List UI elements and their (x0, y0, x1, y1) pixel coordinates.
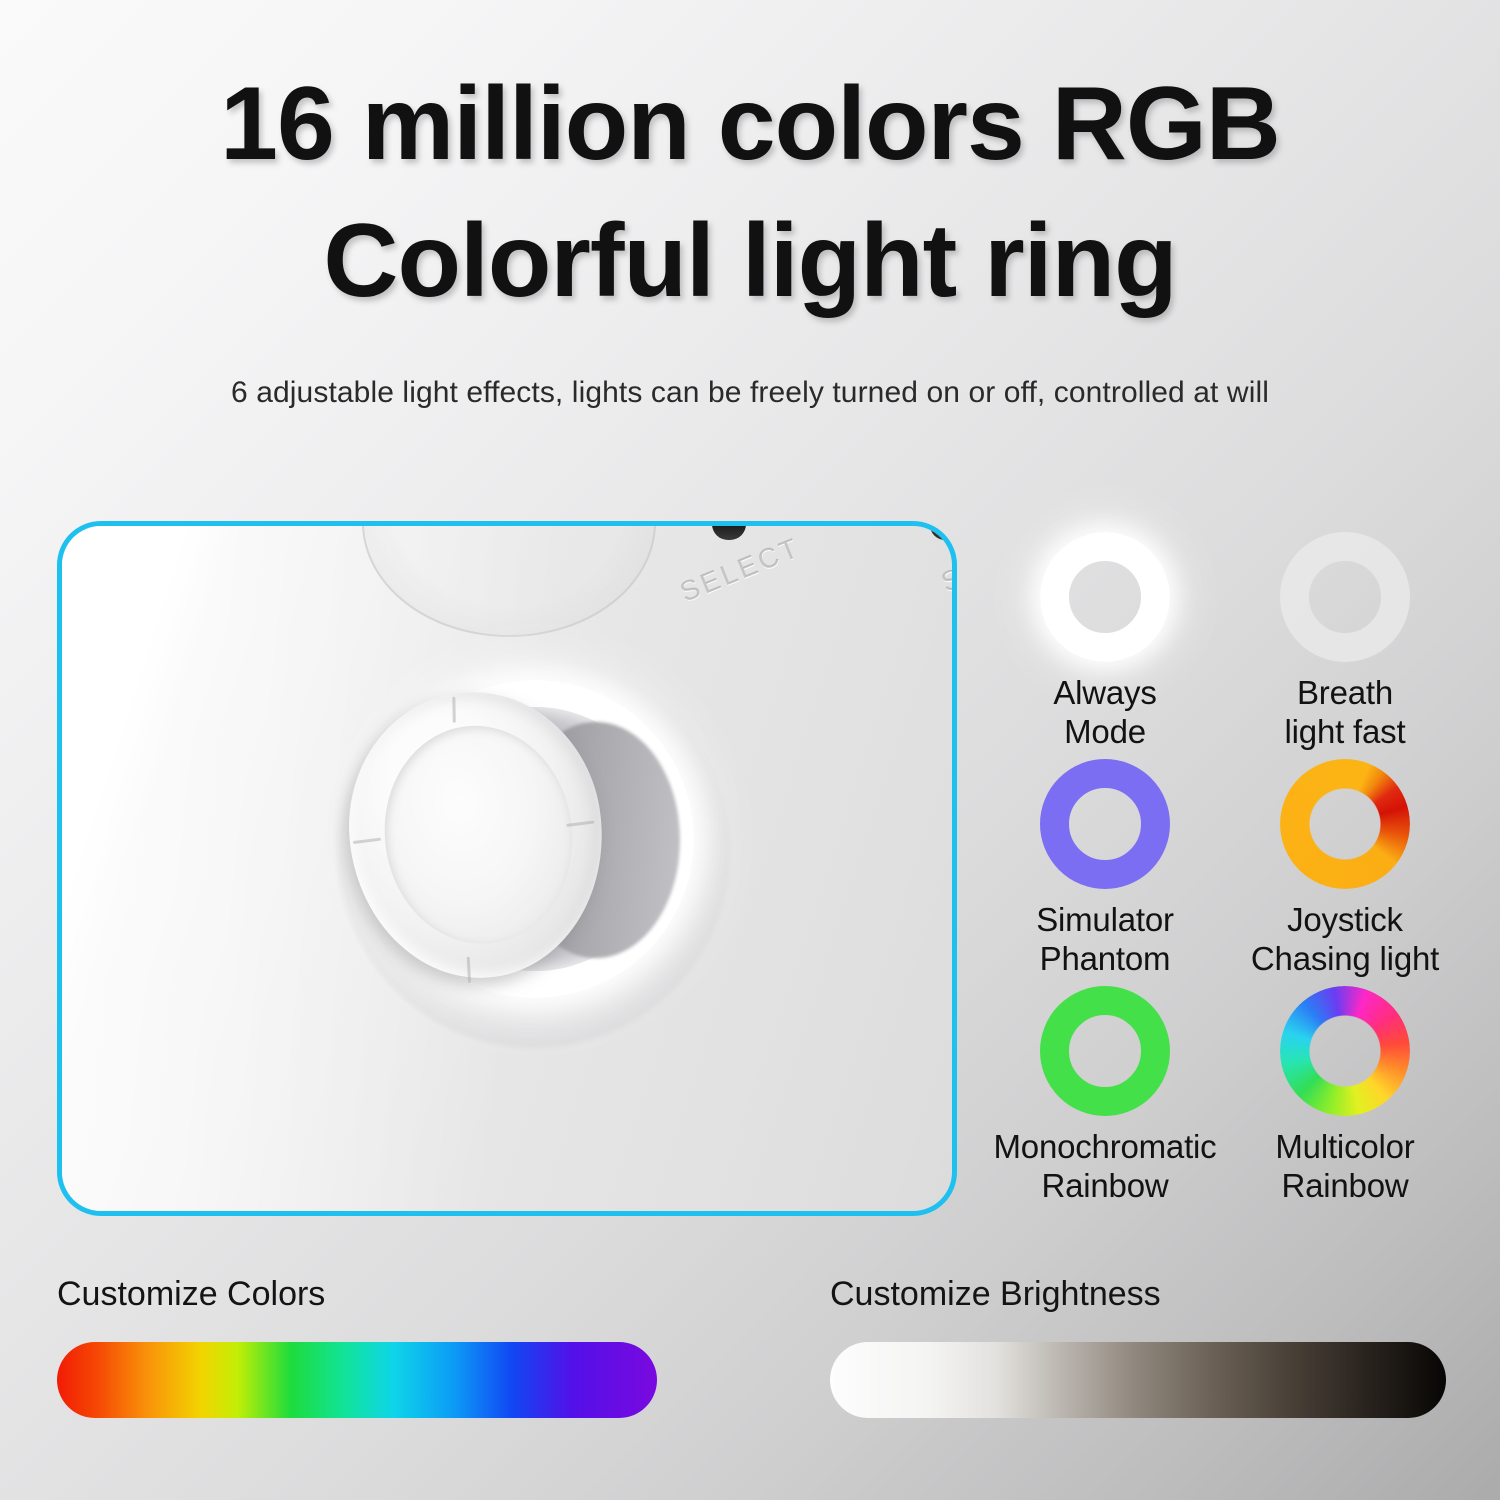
light-mode-row: Simulator Phantom Joystick Chasing light (985, 751, 1465, 978)
joystick-seam (453, 697, 456, 723)
page-subtitle: 6 adjustable light effects, lights can b… (0, 376, 1500, 410)
shell-port-left (712, 524, 746, 540)
customize-colors-title: Customize Colors (57, 1275, 657, 1314)
joystick-cap-dish (373, 715, 585, 953)
light-mode-label: Monochromatic Rainbow (985, 1128, 1225, 1205)
light-mode-label: Always Mode (985, 674, 1225, 751)
joystick-seam (467, 957, 471, 983)
customize-colors-block: Customize Colors (57, 1275, 657, 1418)
ring-slot (1225, 751, 1465, 897)
breath-light-ring-icon (1280, 532, 1410, 662)
light-mode-multicolor[interactable]: Multicolor Rainbow (1225, 978, 1465, 1205)
shell-button-recess (362, 521, 656, 637)
shell-port-right (930, 524, 957, 540)
product-photo-panel: SELECT S (57, 521, 957, 1216)
ring-slot (1225, 978, 1465, 1124)
customize-brightness-title: Customize Brightness (830, 1275, 1446, 1314)
light-mode-label: Joystick Chasing light (1225, 901, 1465, 978)
joystick-seam (352, 838, 380, 844)
multicolor-rainbow-ring-icon (1280, 986, 1410, 1116)
light-mode-row: Always Mode Breath light fast (985, 524, 1465, 751)
light-mode-monochromatic[interactable]: Monochromatic Rainbow (985, 978, 1225, 1205)
light-mode-phantom[interactable]: Simulator Phantom (985, 751, 1225, 978)
light-mode-breath[interactable]: Breath light fast (1225, 524, 1465, 751)
light-mode-grid: Always Mode Breath light fast Simulator … (985, 524, 1465, 1206)
light-mode-chasing[interactable]: Joystick Chasing light (1225, 751, 1465, 978)
product-feature-page: 16 million colors RGB Colorful light rin… (0, 0, 1500, 1500)
light-mode-label: Breath light fast (1225, 674, 1465, 751)
always-mode-ring-icon (1040, 532, 1170, 662)
simulator-phantom-ring-icon (1040, 759, 1170, 889)
light-mode-label: Simulator Phantom (985, 901, 1225, 978)
ring-slot (985, 978, 1225, 1124)
joystick-chasing-ring-icon (1280, 759, 1410, 889)
light-mode-label: Multicolor Rainbow (1225, 1128, 1465, 1205)
start-emboss-label: S (937, 561, 957, 599)
light-mode-always[interactable]: Always Mode (985, 524, 1225, 751)
monochromatic-rainbow-ring-icon (1040, 986, 1170, 1116)
select-emboss-label: SELECT (676, 531, 806, 608)
joystick-assembly (324, 638, 744, 1078)
ring-slot (985, 751, 1225, 897)
color-spectrum-slider[interactable] (57, 1342, 657, 1418)
customize-brightness-block: Customize Brightness (830, 1275, 1446, 1418)
page-headline: 16 million colors RGB Colorful light rin… (0, 56, 1500, 331)
brightness-slider[interactable] (830, 1342, 1446, 1418)
ring-slot (985, 524, 1225, 670)
ring-slot (1225, 524, 1465, 670)
light-mode-row: Monochromatic Rainbow Multicolor Rainbow (985, 978, 1465, 1205)
